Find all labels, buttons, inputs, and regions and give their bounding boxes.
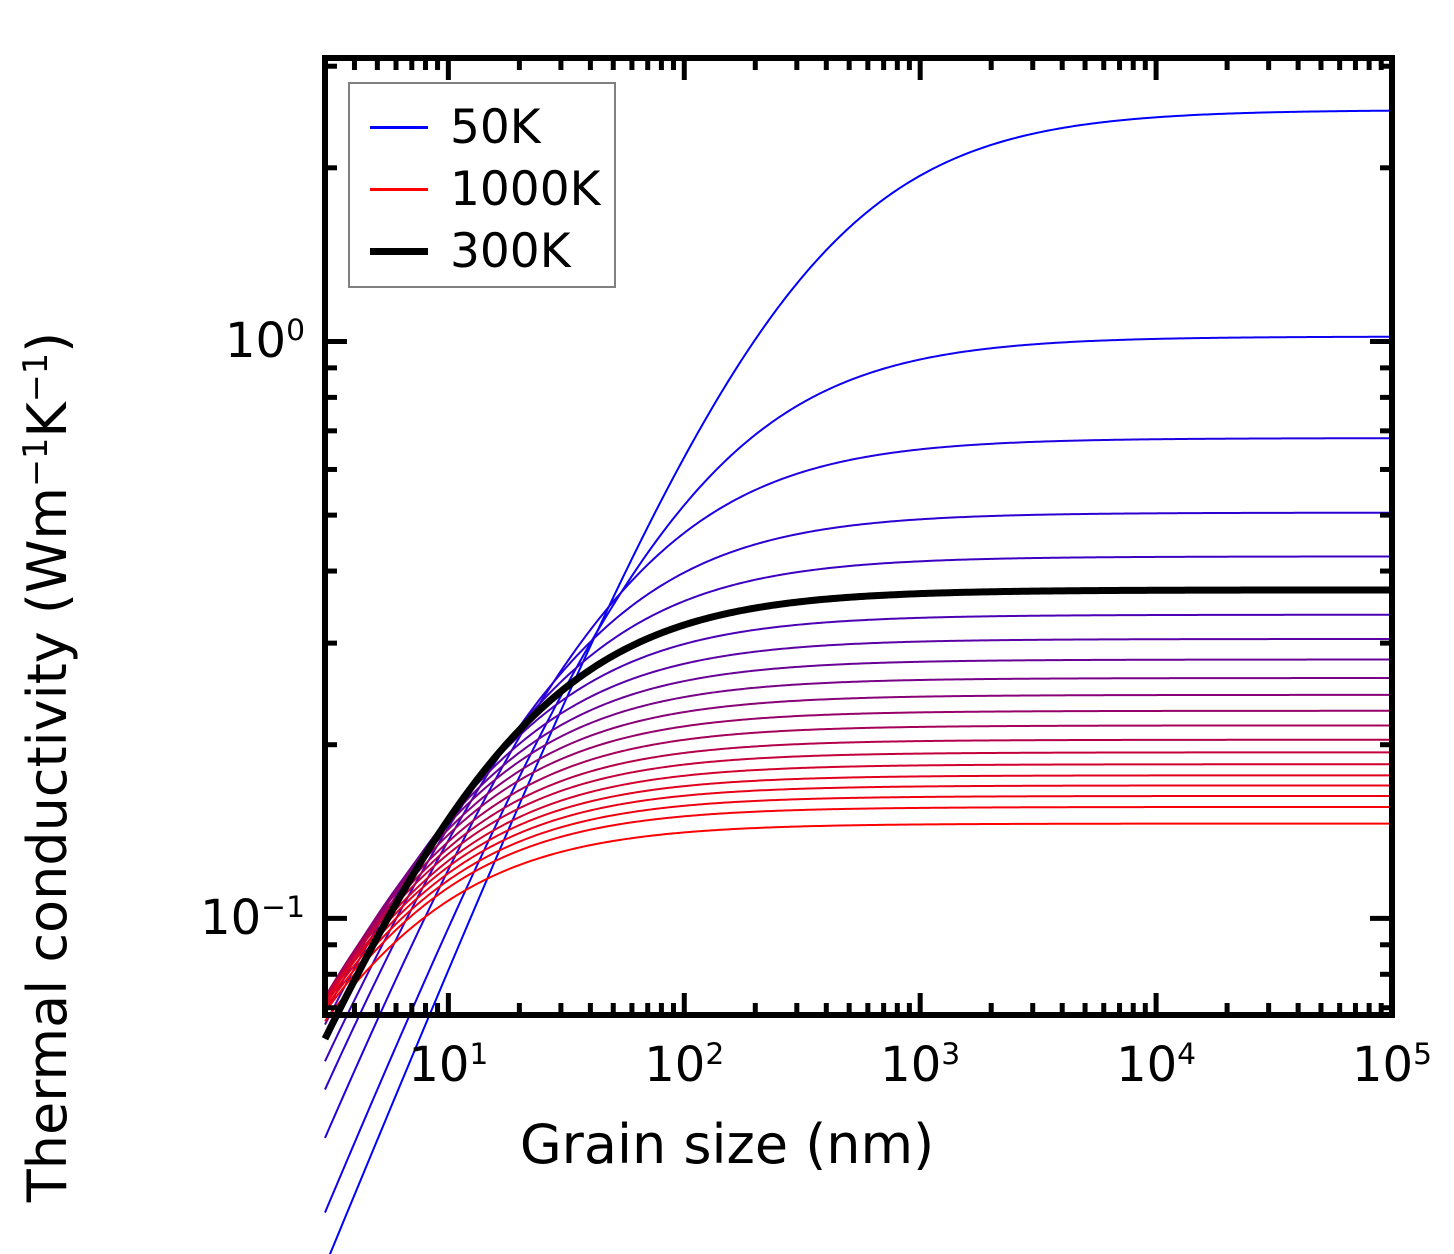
- x-tick-mantissa: 10: [644, 1037, 705, 1093]
- curve-950K: [325, 807, 1392, 1012]
- y-tick-exponent: 0: [286, 313, 305, 348]
- x-tick-mantissa: 10: [1352, 1037, 1413, 1093]
- x-tick-mantissa: 10: [880, 1037, 941, 1093]
- x-tick-label: 103: [880, 1041, 960, 1089]
- x-tick-label: 105: [1352, 1041, 1432, 1089]
- legend-item-50K[interactable]: 50K: [350, 96, 614, 158]
- y-tick-exponent: −1: [261, 890, 305, 925]
- chart-figure: 101102103104105 10010−1 Grain size (nm) …: [0, 0, 1454, 1254]
- y-tick-label: 10−1: [150, 894, 305, 942]
- curve-300K: [325, 590, 1392, 1039]
- legend-line-swatch-icon: [368, 188, 430, 191]
- x-tick-label: 101: [408, 1041, 488, 1089]
- curve-1000K: [325, 824, 1392, 1022]
- x-tick-mantissa: 10: [1116, 1037, 1177, 1093]
- x-tick-exponent: 2: [705, 1037, 724, 1072]
- legend-line-swatch-icon: [368, 248, 430, 255]
- x-tick-label: 102: [644, 1041, 724, 1089]
- legend-item-300K[interactable]: 300K: [350, 220, 614, 282]
- x-tick-exponent: 5: [1413, 1037, 1432, 1072]
- plot-canvas: [0, 0, 1454, 1254]
- legend-label: 300K: [450, 228, 571, 275]
- y-tick-label: 100: [150, 317, 305, 365]
- x-tick-mantissa: 10: [408, 1037, 469, 1093]
- legend-label: 1000K: [450, 166, 600, 213]
- legend-item-1000K[interactable]: 1000K: [350, 158, 614, 220]
- legend-line-swatch-icon: [368, 126, 430, 129]
- y-tick-mantissa: 10: [200, 890, 261, 946]
- legend-label: 50K: [450, 104, 541, 151]
- curve-880K: [325, 785, 1392, 1004]
- x-tick-exponent: 1: [469, 1037, 488, 1072]
- x-tick-label: 104: [1116, 1041, 1196, 1089]
- curve-500K: [325, 678, 1392, 1001]
- legend[interactable]: 50K1000K300K: [348, 82, 616, 288]
- x-tick-exponent: 3: [941, 1037, 960, 1072]
- x-axis-title: Grain size (nm): [0, 1118, 1454, 1172]
- x-tick-exponent: 4: [1177, 1037, 1196, 1072]
- y-tick-mantissa: 10: [225, 313, 286, 369]
